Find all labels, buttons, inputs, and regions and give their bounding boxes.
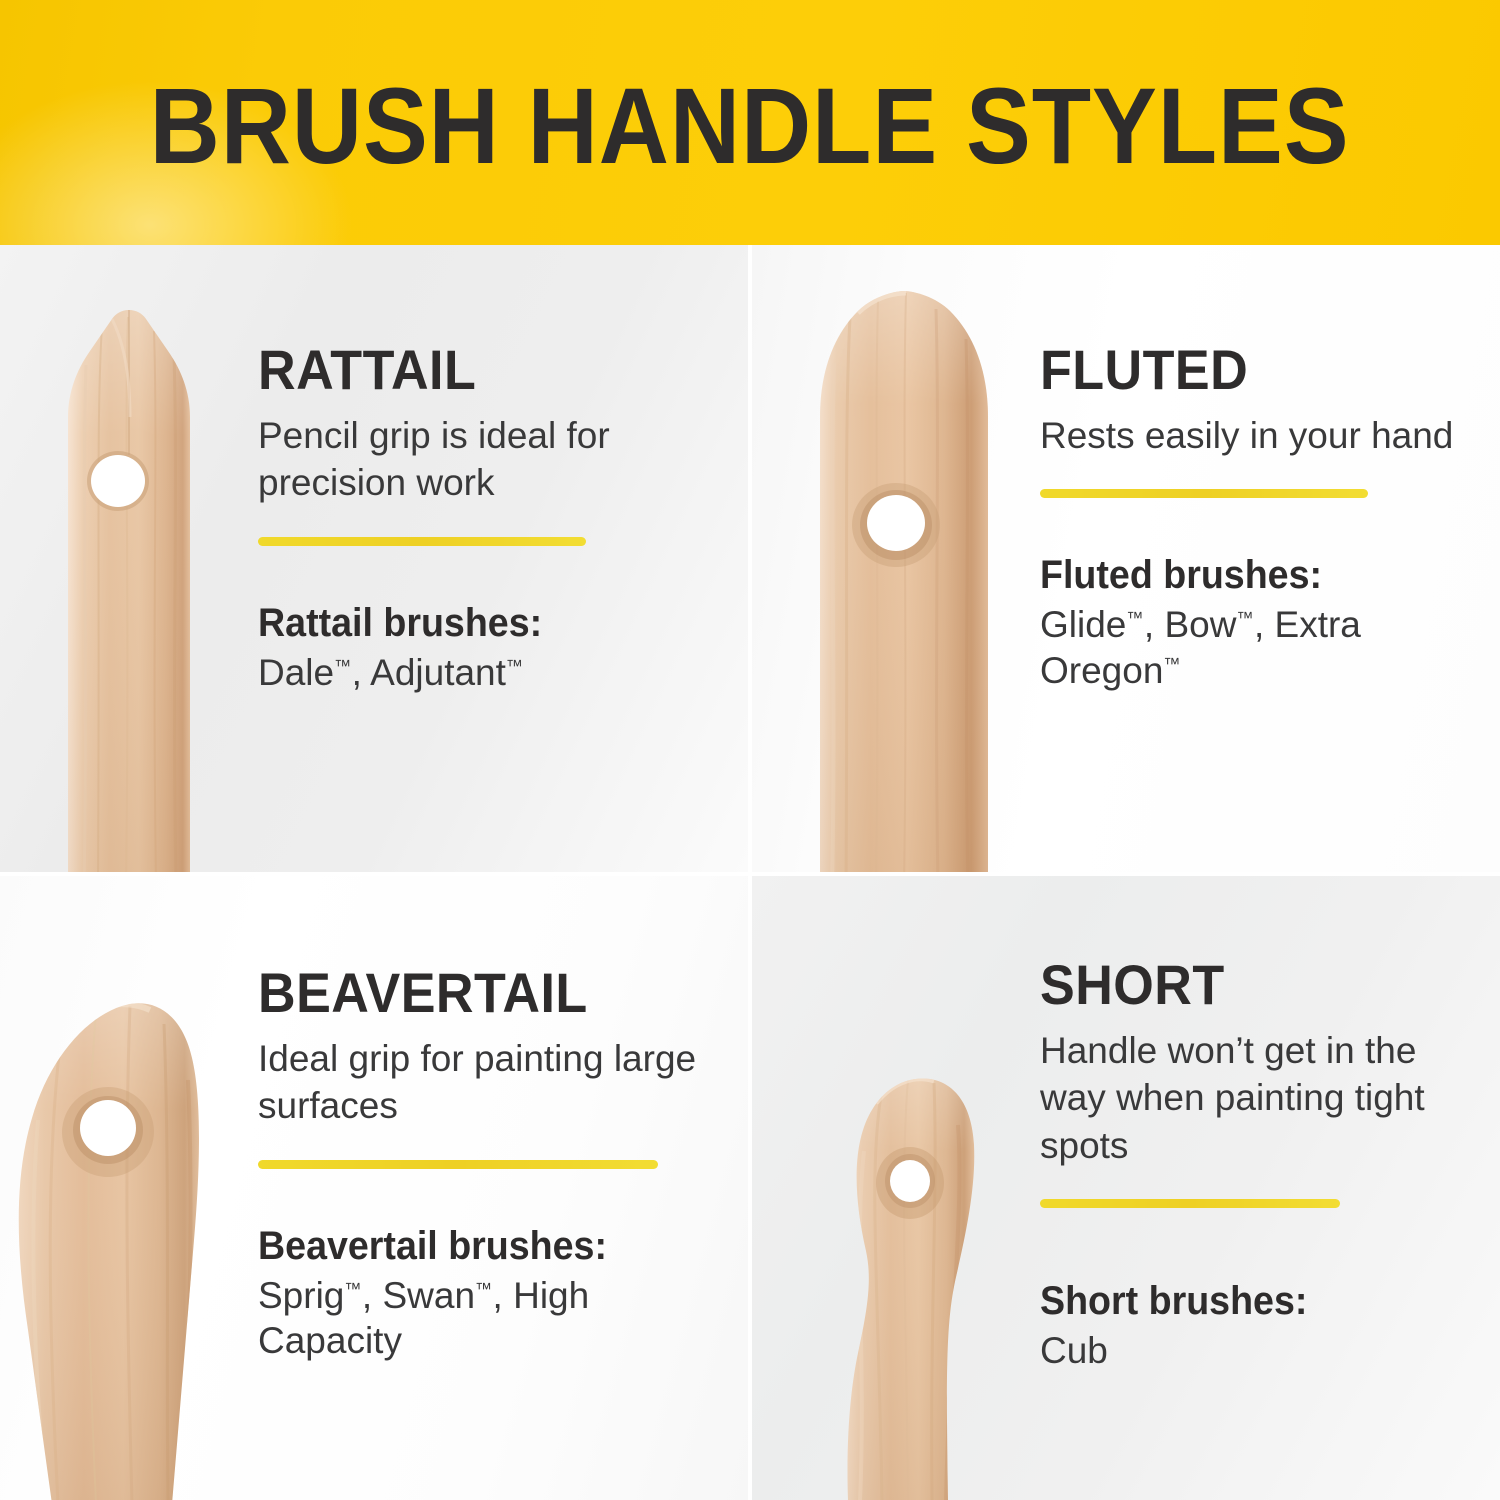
- style-description-fluted: Rests easily in your hand: [1040, 412, 1460, 459]
- style-name-short: SHORT: [1040, 956, 1440, 1013]
- panel-fluted: FLUTED Rests easily in your hand Fluted …: [752, 245, 1500, 872]
- brushes-label-short: Short brushes:: [1040, 1280, 1444, 1322]
- style-description-beavertail: Ideal grip for painting large surfaces: [258, 1035, 698, 1130]
- brushes-list-rattail: Dale™, Adjutant™: [258, 650, 678, 695]
- short-content: SHORT Handle won’t get in the way when p…: [1040, 956, 1470, 1373]
- panel-grid: RATTAIL Pencil grip is ideal for precisi…: [0, 245, 1500, 1500]
- panel-short: SHORT Handle won’t get in the way when p…: [752, 876, 1500, 1500]
- page-title: BRUSH HANDLE STYLES: [150, 72, 1350, 180]
- style-name-rattail: RATTAIL: [258, 341, 649, 398]
- divider-rule-short: [1040, 1199, 1340, 1208]
- header-banner: BRUSH HANDLE STYLES: [0, 0, 1500, 245]
- brushes-list-short: Cub: [1040, 1328, 1470, 1373]
- brushes-label-rattail: Rattail brushes:: [258, 602, 653, 644]
- rattail-handle-image: [50, 285, 210, 872]
- brushes-label-fluted: Fluted brushes:: [1040, 554, 1435, 596]
- panel-rattail: RATTAIL Pencil grip is ideal for precisi…: [0, 245, 748, 872]
- divider-rule-rattail: [258, 537, 586, 546]
- infographic-root: BRUSH HANDLE STYLES: [0, 0, 1500, 1500]
- style-name-fluted: FLUTED: [1040, 341, 1431, 398]
- fluted-content: FLUTED Rests easily in your hand Fluted …: [1040, 341, 1460, 693]
- fluted-handle-image: [794, 267, 1014, 872]
- brushes-label-beavertail: Beavertail brushes:: [258, 1225, 672, 1267]
- divider-rule-fluted: [1040, 489, 1368, 498]
- brushes-list-beavertail: Sprig™, Swan™, High Capacity: [258, 1273, 698, 1363]
- style-description-short: Handle won’t get in the way when paintin…: [1040, 1027, 1470, 1169]
- rattail-content: RATTAIL Pencil grip is ideal for precisi…: [258, 341, 678, 695]
- divider-rule-beavertail: [258, 1160, 658, 1169]
- style-name-beavertail: BEAVERTAIL: [258, 964, 667, 1021]
- beavertail-handle-image: [0, 970, 252, 1500]
- brushes-list-fluted: Glide™, Bow™, Extra Oregon™: [1040, 602, 1460, 692]
- style-description-rattail: Pencil grip is ideal for precision work: [258, 412, 678, 507]
- panel-beavertail: BEAVERTAIL Ideal grip for painting large…: [0, 876, 748, 1500]
- short-handle-image: [790, 1041, 1010, 1500]
- beavertail-content: BEAVERTAIL Ideal grip for painting large…: [258, 964, 698, 1363]
